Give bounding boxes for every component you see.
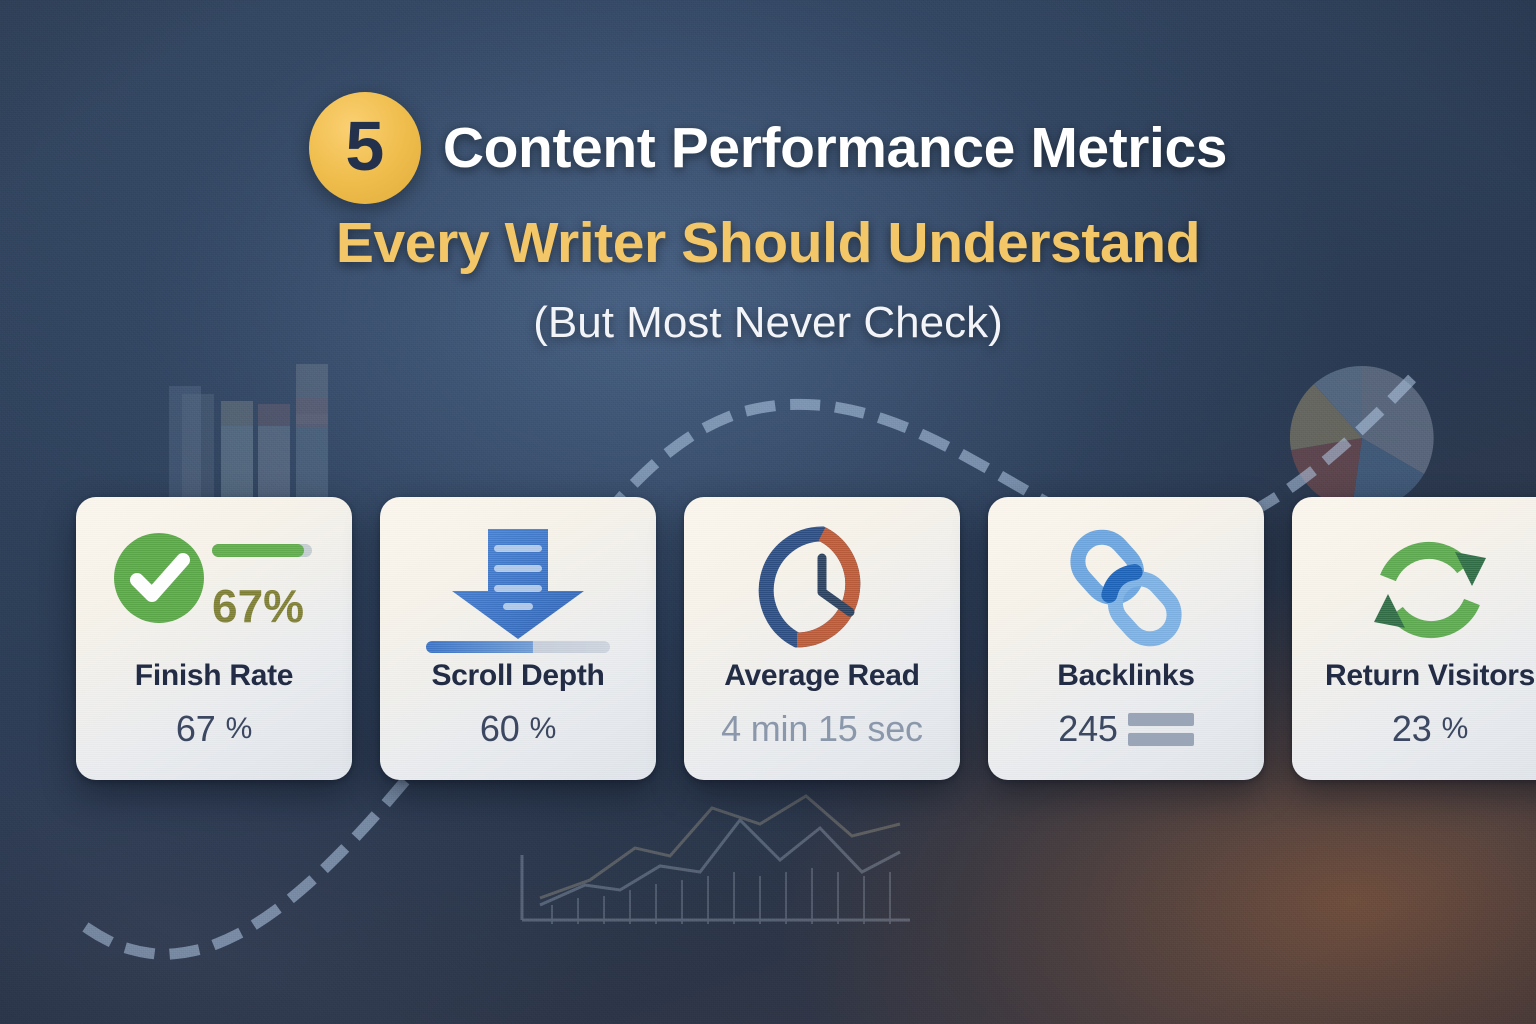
- metric-card-finish-rate[interactable]: 67% Finish Rate 67%: [76, 497, 352, 780]
- infographic-canvas: 5 Content Performance Metrics Every Writ…: [0, 0, 1536, 1024]
- card-value-number: 245: [1058, 711, 1117, 747]
- card-title: Average Read: [724, 661, 919, 691]
- card-value-number: 23: [1392, 711, 1432, 747]
- pie-chart-decor: [1290, 366, 1434, 510]
- card-value: 245: [1058, 711, 1193, 747]
- page-subtitle-gold: Every Writer Should Understand: [336, 210, 1200, 276]
- card-value-unit: %: [226, 714, 252, 744]
- refresh-circle-icon: [1374, 550, 1486, 629]
- header: 5 Content Performance Metrics Every Writ…: [0, 0, 1536, 340]
- metric-card-row: 67% Finish Rate 67%: [76, 497, 1536, 780]
- card-value-number: 60: [480, 711, 520, 747]
- card-title: Return Visitors: [1325, 661, 1535, 691]
- average-read-icon-area: [684, 523, 960, 657]
- card-value-number: 4 min 15 sec: [721, 711, 923, 747]
- card-title: Backlinks: [1057, 661, 1194, 691]
- chain-link-icon: [1068, 527, 1184, 648]
- download-arrow-icon: [452, 529, 584, 639]
- line-chart-decor: [522, 796, 910, 924]
- metric-card-return-visitors[interactable]: Return Visitors 23%: [1292, 497, 1536, 780]
- card-title: Scroll Depth: [431, 661, 604, 691]
- finish-rate-icon-area: 67%: [76, 523, 352, 657]
- progress-bar: [426, 641, 610, 653]
- metric-card-scroll-depth[interactable]: Scroll Depth 60%: [380, 497, 656, 780]
- metric-card-backlinks[interactable]: Backlinks 245: [988, 497, 1264, 780]
- card-value: 60%: [480, 711, 556, 747]
- clock-icon: [766, 534, 853, 640]
- progress-bar: [212, 544, 312, 557]
- card-value: 67%: [176, 711, 252, 747]
- card-value-number: 67: [176, 711, 216, 747]
- card-title: Finish Rate: [135, 661, 293, 691]
- finish-rate-overlay-percent: 67%: [212, 580, 304, 632]
- title-row: 5 Content Performance Metrics: [309, 92, 1227, 204]
- page-tagline: (But Most Never Check): [533, 298, 1002, 348]
- backlinks-icon-area: [988, 523, 1264, 657]
- return-visitors-icon-area: [1292, 523, 1536, 657]
- backlinks-bar-indicator: [1128, 713, 1194, 746]
- metric-card-average-read[interactable]: Average Read 4 min 15 sec: [684, 497, 960, 780]
- scroll-depth-icon-area: [380, 523, 656, 657]
- card-value-unit: %: [530, 714, 556, 744]
- bar-chart-decor: [150, 364, 350, 519]
- card-value: 23%: [1392, 711, 1468, 747]
- count-badge: 5: [309, 92, 421, 204]
- check-circle-icon: [114, 533, 204, 623]
- card-value-unit: %: [1442, 714, 1468, 744]
- card-value: 4 min 15 sec: [721, 711, 923, 747]
- page-title: Content Performance Metrics: [443, 115, 1227, 181]
